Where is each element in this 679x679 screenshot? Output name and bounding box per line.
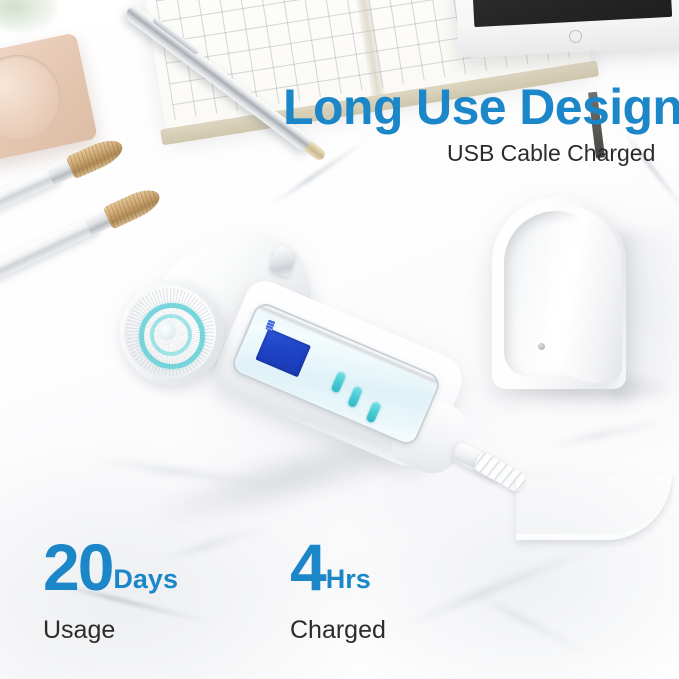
lcd-display — [255, 328, 311, 377]
usb-cable-wire — [516, 474, 666, 520]
stat-value: 20 — [43, 534, 112, 600]
stats-row: 20 Days Usage 4 Hrs Charged — [0, 534, 679, 654]
stat-value-row: 4 Hrs — [290, 534, 386, 600]
stat-label: Usage — [43, 618, 178, 643]
product-poster: Long Use Design USB Cable Charged 20 Day… — [0, 0, 679, 679]
stat-usage: 20 Days Usage — [43, 534, 178, 643]
subheadline: USB Cable Charged — [447, 142, 655, 165]
stat-value-row: 20 Days — [43, 534, 178, 600]
stand-contact-pin — [538, 343, 545, 350]
stand-outer-lip — [550, 205, 622, 383]
stat-label: Charged — [290, 618, 386, 643]
tablet-screen — [469, 0, 672, 27]
charging-stand — [492, 197, 626, 389]
stat-unit: Hrs — [326, 566, 371, 593]
mode-button-2[interactable] — [347, 384, 364, 408]
powder-pan — [0, 47, 69, 149]
power-button[interactable] — [365, 400, 382, 424]
brush-center-hub — [158, 322, 176, 340]
headline: Long Use Design — [283, 82, 679, 132]
stat-value: 4 — [290, 534, 325, 600]
tablet-home-button — [569, 30, 583, 44]
stat-unit: Days — [113, 566, 178, 593]
mode-button-1[interactable] — [330, 370, 347, 394]
stat-charged: 4 Hrs Charged — [290, 534, 386, 643]
